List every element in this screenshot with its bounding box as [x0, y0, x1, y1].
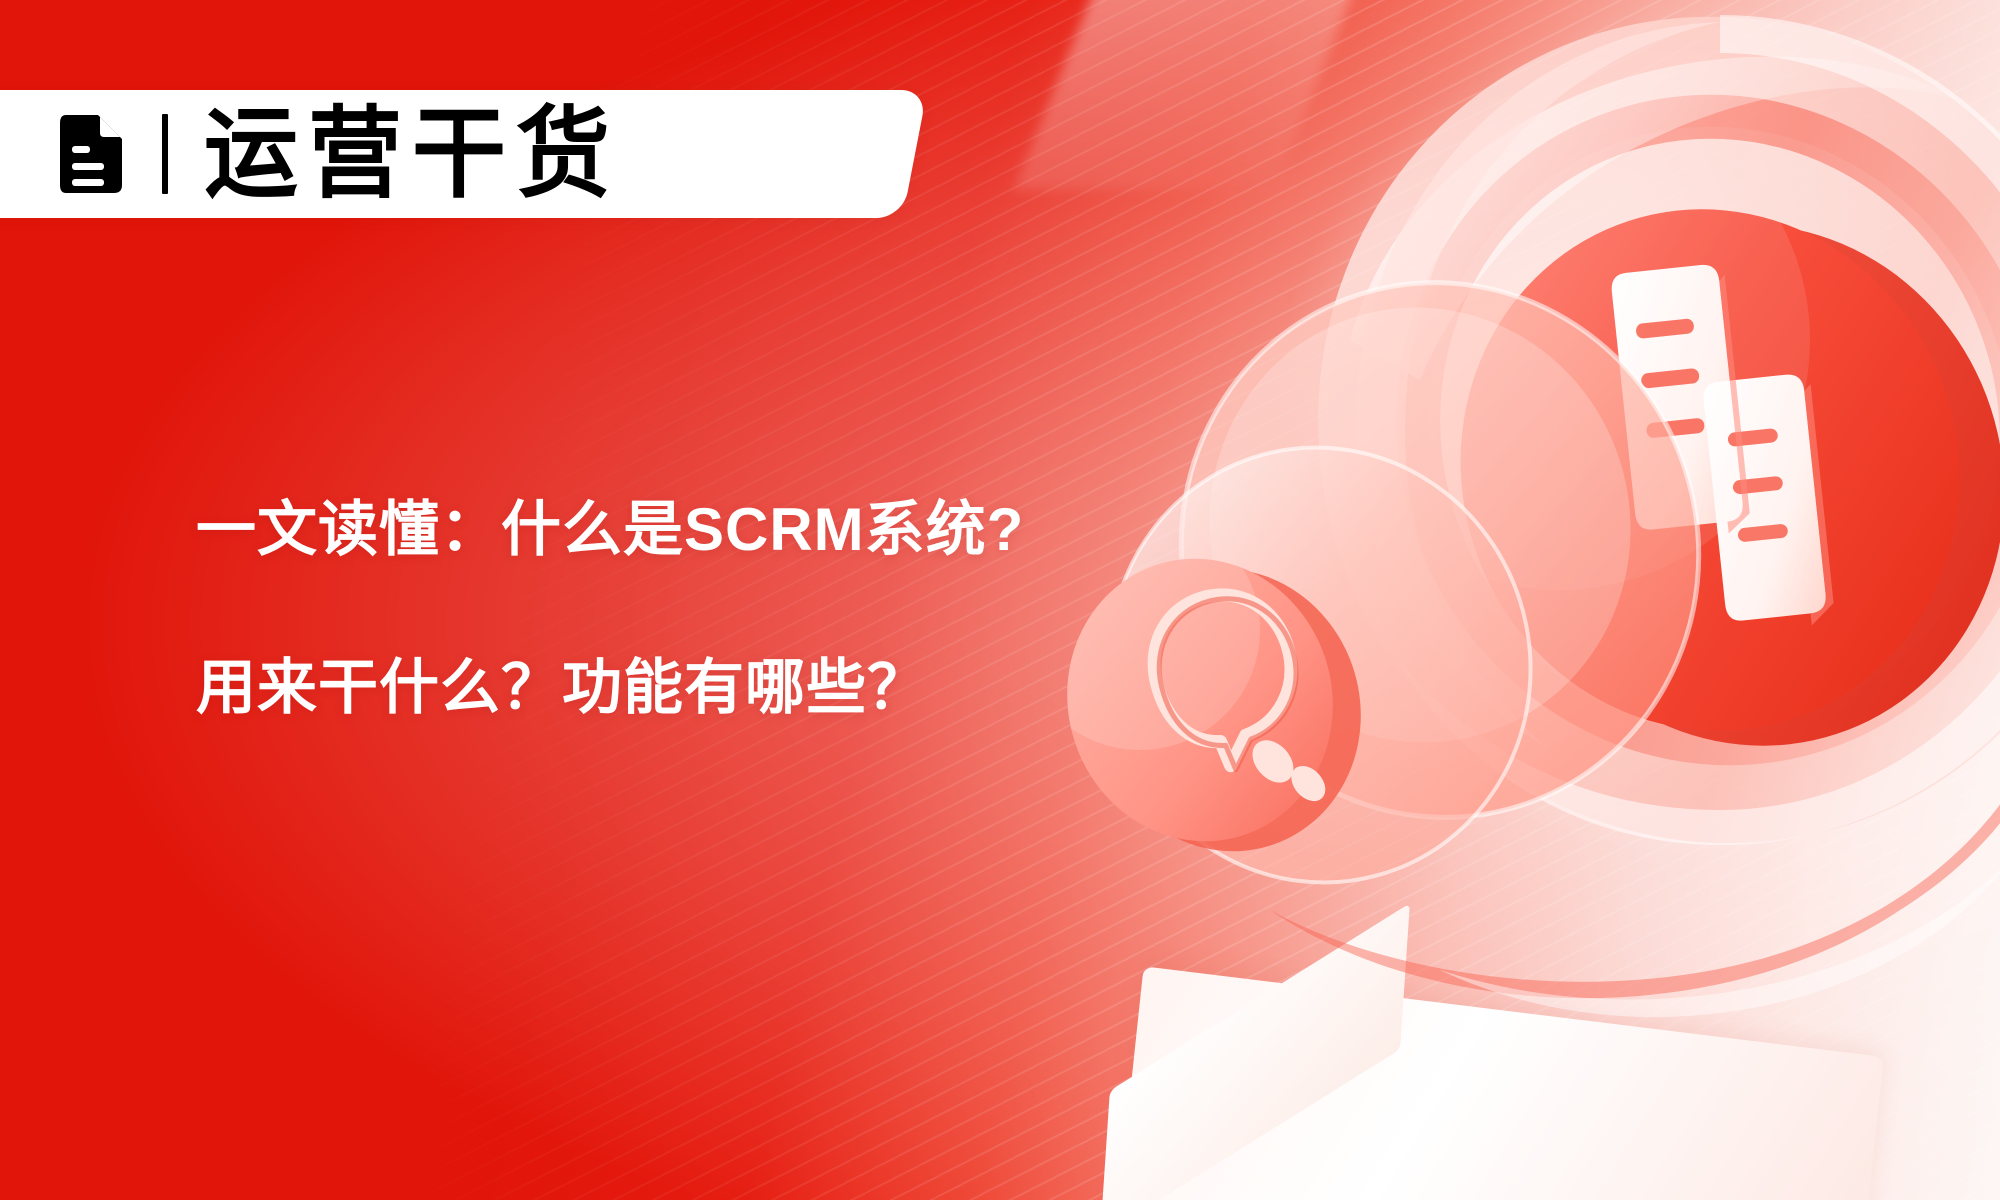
artwork-glass-composition [1020, 0, 2000, 1200]
headline: 一文读懂：什么是SCRM系统? 用来干什么？功能有哪些？ [196, 500, 1024, 718]
badge-divider [162, 114, 168, 194]
headline-line-1: 一文读懂：什么是SCRM系统? [196, 500, 1024, 560]
document-icon [60, 115, 122, 193]
badge[interactable]: 运营干货 [0, 90, 915, 218]
badge-label: 运营干货 [204, 104, 620, 204]
banner-root: 运营干货 一文读懂：什么是SCRM系统? 用来干什么？功能有哪些？ [0, 0, 2000, 1200]
headline-line-2: 用来干什么？功能有哪些？ [196, 658, 1024, 718]
